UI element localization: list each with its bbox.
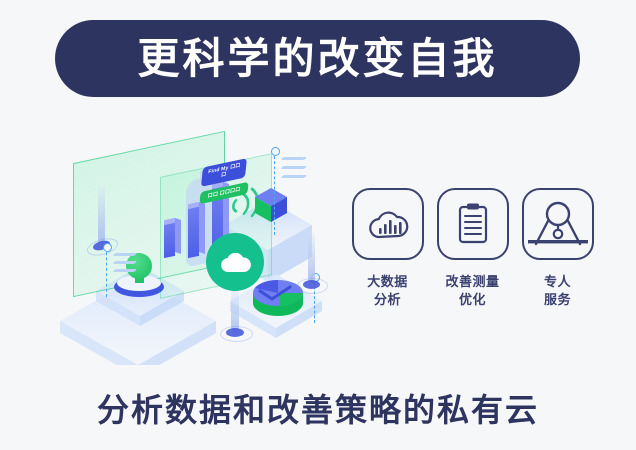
- feature-label-1: 大数据 分析: [367, 273, 408, 308]
- indicator-gauge-right: [308, 231, 315, 283]
- dashed-connector-dot-2: [271, 147, 280, 156]
- feature-label-3: 专人 服务: [544, 273, 571, 308]
- gauge-base-right: [303, 280, 320, 289]
- green-pin-icon: [126, 253, 152, 279]
- accent-slash-2: [113, 261, 137, 264]
- accent-slash-5: [281, 166, 307, 169]
- feature-item-service[interactable]: 专人 服务: [522, 188, 593, 308]
- feature-item-big-data[interactable]: 大数据 分析: [352, 188, 423, 308]
- header-banner: 更科学的改变自我: [55, 20, 580, 97]
- accent-slash-4: [281, 157, 307, 160]
- feature-label-3-line2: 服务: [544, 291, 571, 309]
- bar-chart-bar-1: [164, 222, 175, 258]
- feature-item-measurement[interactable]: 改善测量 优化: [437, 188, 508, 308]
- footer-tagline: 分析数据和改善策略的私有云: [0, 385, 636, 431]
- feature-label-2: 改善测量 优化: [445, 273, 499, 308]
- accent-slash-3: [113, 269, 137, 272]
- feature-label-1-line2: 分析: [367, 291, 408, 309]
- pie-chart-icon: [250, 273, 306, 319]
- cloud-badge-stem: [231, 287, 239, 331]
- isometric-cube-icon: [254, 187, 288, 223]
- feature-label-2-line1: 改善测量: [445, 273, 499, 291]
- feature-label-2-line2: 优化: [445, 291, 499, 309]
- accent-slash-1: [113, 253, 137, 256]
- dashed-connector-2: [274, 151, 275, 235]
- feature-icon-box-2: [437, 188, 509, 260]
- dashed-connector-dot-1: [103, 243, 112, 252]
- feature-label-3-line1: 专人: [544, 273, 571, 291]
- bar-chart-bar-2: [188, 206, 199, 258]
- indicator-gauge-left: [98, 184, 105, 243]
- feature-icon-box-1: [352, 188, 424, 260]
- header-title: 更科学的改变自我: [137, 38, 497, 80]
- feature-list: 大数据 分析 改善测量 优化: [352, 188, 594, 308]
- feature-icon-box-3: [522, 188, 594, 260]
- cloud-bar-chart-icon: [366, 206, 410, 242]
- accent-slash-6: [281, 175, 307, 178]
- cloud-badge-base: [226, 328, 244, 337]
- clipboard-icon: [455, 202, 491, 246]
- service-person-icon: [526, 192, 590, 256]
- hero-illustration: Find My 口口口 口口 口口口口: [40, 125, 340, 365]
- cloud-icon: [218, 250, 252, 274]
- feature-label-1-line1: 大数据: [367, 273, 408, 291]
- poster-canvas: 更科学的改变自我: [0, 0, 636, 450]
- dashed-connector-1: [106, 247, 107, 297]
